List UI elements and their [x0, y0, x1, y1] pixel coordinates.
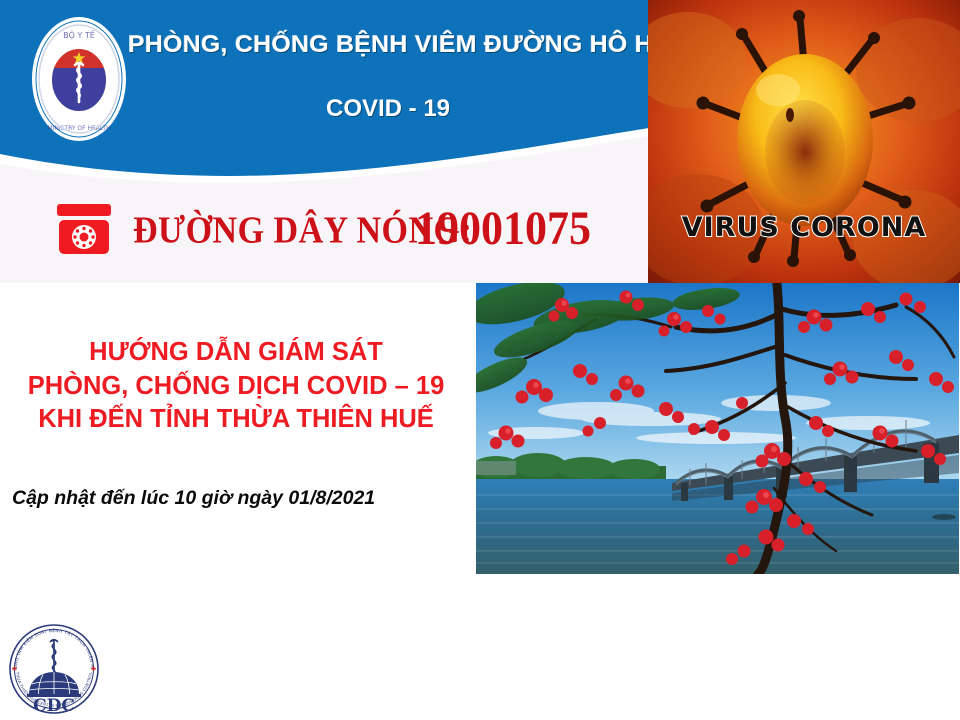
telephone-icon: [55, 202, 113, 258]
page-title-line-1: HƯỚNG DẪN GIÁM SÁT: [0, 336, 472, 370]
corona-caption: VIRUS CORONA: [648, 212, 960, 243]
page-title-line-3: KHI ĐẾN TỈNH THỪA THIÊN HUẾ: [0, 403, 472, 437]
page-title-line-2: PHÒNG, CHỐNG DỊCH COVID – 19: [0, 370, 472, 404]
corona-virus-image: VIRUS CORONA: [648, 0, 960, 283]
cdc-acronym: CDC: [33, 696, 75, 716]
cdc-logo: TRUNG TÂM KIỂM SOÁT BỆNH TẬT THỪA THIÊN …: [7, 622, 101, 716]
page-title: HƯỚNG DẪN GIÁM SÁT PHÒNG, CHỐNG DỊCH COV…: [0, 336, 472, 437]
banner-subtitle: COVID - 19: [133, 95, 643, 123]
banner-blue-area: BỘ Y TẾ MINISTRY OF HEALTH PHÒNG, CHỐNG …: [0, 0, 649, 190]
hue-bridge-illustration: [476, 283, 959, 574]
covid-header-banner: BỘ Y TẾ MINISTRY OF HEALTH PHÒNG, CHỐNG …: [0, 0, 960, 283]
svg-text:MINISTRY OF HEALTH: MINISTRY OF HEALTH: [47, 125, 110, 132]
hue-bridge-photo: [476, 283, 959, 574]
update-timestamp: Cập nhật đến lúc 10 giờ ngày 01/8/2021: [8, 487, 472, 510]
hotline-strip: ĐƯỜNG DÂY NÓNG: 19001075: [0, 190, 649, 283]
ministry-of-health-emblem: BỘ Y TẾ MINISTRY OF HEALTH: [30, 14, 128, 144]
svg-text:BỘ Y TẾ: BỘ Y TẾ: [63, 29, 96, 40]
hotline-number[interactable]: 19001075: [415, 201, 591, 256]
banner-title: PHÒNG, CHỐNG BỆNH VIÊM ĐƯỜNG HÔ HẤP CẤP: [128, 32, 648, 59]
